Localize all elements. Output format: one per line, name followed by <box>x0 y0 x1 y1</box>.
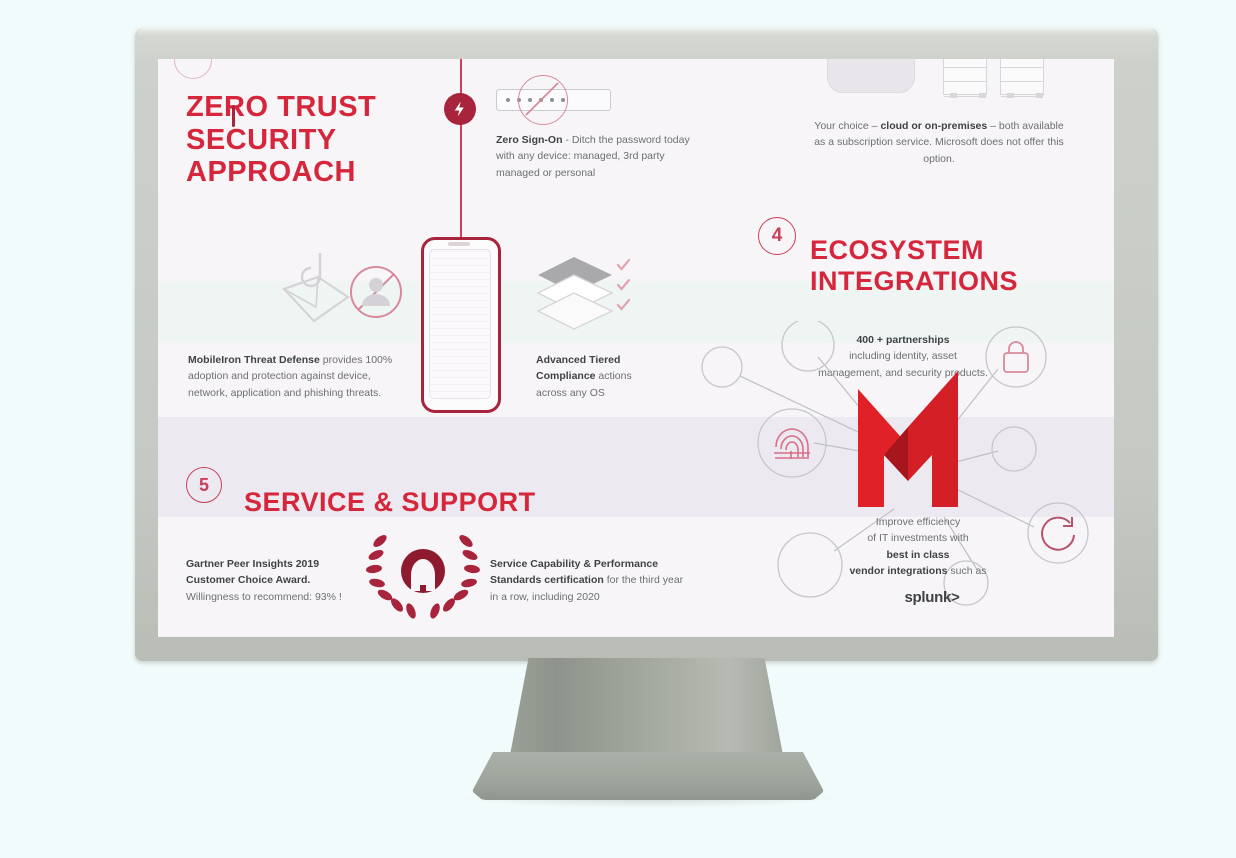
password-dot <box>506 98 510 102</box>
monitor-screen: ZERO TRUST SECURITY APPROACH Zero Sig <box>158 59 1114 637</box>
fingerprint-icon <box>774 429 810 459</box>
threat-defense-caption: MobileIron Threat Defense provides 100% … <box>188 352 400 402</box>
node-circle <box>782 321 834 371</box>
mobileiron-m-logo <box>856 371 960 507</box>
zero-sign-on-separator: - <box>563 134 572 146</box>
section-number-5: 5 <box>199 475 209 496</box>
page-title-line-3: APPROACH <box>186 156 356 188</box>
ecosystem-title-line-2: INTEGRATIONS <box>810 266 1018 296</box>
efficiency-suffix: such as <box>947 565 986 577</box>
gartner-line-2: Customer Choice Award. <box>186 574 310 586</box>
zero-sign-on-node-icon <box>444 93 476 125</box>
server-slot <box>1001 68 1043 82</box>
efficiency-caption: Improve efficiency of IT investments wit… <box>820 514 1016 580</box>
section-number-badge-4: 4 <box>758 217 796 255</box>
gartner-line-3: Willingness to recommend: 93% ! <box>186 591 342 603</box>
page-title-line-1: ZERO TRUST <box>186 91 376 123</box>
deployment-prefix: Your choice – <box>814 120 880 132</box>
phone-side-button <box>232 105 235 127</box>
node-circle <box>992 427 1036 471</box>
page-title: ZERO TRUST SECURITY APPROACH <box>186 91 376 188</box>
server-leg <box>1036 93 1043 98</box>
deployment-bold: cloud or on-premises <box>880 120 987 132</box>
tiered-compliance-caption: Advanced Tiered Compliance actions acros… <box>536 352 656 402</box>
efficiency-bold-2: vendor integrations <box>849 565 947 577</box>
person-prohibited-icon <box>348 264 404 320</box>
lock-icon <box>1004 342 1028 372</box>
section-number-4: 4 <box>772 225 783 247</box>
server-rack-icon <box>943 59 987 95</box>
layered-stack-icon <box>536 255 636 331</box>
deployment-choice-caption: Your choice – cloud or on-premises – bot… <box>808 118 1070 168</box>
phone-screen <box>429 249 491 399</box>
ecosystem-title-line-1: ECOSYSTEM <box>810 235 984 265</box>
server-leg <box>979 93 986 98</box>
node-circle <box>986 327 1046 387</box>
ecosystem-title: ECOSYSTEM INTEGRATIONS <box>810 235 1018 295</box>
service-support-title: SERVICE & SUPPORT <box>244 487 536 517</box>
section-number-badge-5: 5 <box>186 467 222 503</box>
monitor-base-shadow <box>462 788 834 808</box>
monitor-illustration: ZERO TRUST SECURITY APPROACH Zero Sig <box>0 0 1236 858</box>
node-circle <box>702 347 742 387</box>
phone-notch <box>448 242 470 246</box>
efficiency-line-1: Improve efficiency <box>876 516 960 528</box>
gartner-caption: Gartner Peer Insights 2019 Customer Choi… <box>186 556 372 606</box>
server-rack-icon <box>1000 59 1044 95</box>
smartphone-icon <box>421 237 501 413</box>
tablet-device-icon <box>827 59 915 93</box>
server-leg <box>1007 93 1014 98</box>
zero-sign-on-caption: Zero Sign-On - Ditch the password today … <box>496 132 692 182</box>
laurel-person-icon <box>401 549 445 593</box>
sync-refresh-icon <box>1042 517 1074 550</box>
certification-caption: Service Capability & Performance Standar… <box>490 556 690 606</box>
prohibited-slash-icon <box>518 75 566 123</box>
efficiency-line-2: of IT investments with <box>867 532 968 544</box>
laurel-award-icon <box>366 527 480 619</box>
threat-defense-label: MobileIron Threat Defense <box>188 354 320 366</box>
server-slot <box>1001 59 1043 68</box>
gartner-line-1: Gartner Peer Insights 2019 <box>186 558 319 570</box>
monitor-bezel-highlight <box>137 29 1156 36</box>
server-slot <box>944 68 986 82</box>
efficiency-bold-1: best in class <box>886 549 949 561</box>
server-slot <box>944 59 986 68</box>
node-circle <box>1028 503 1088 563</box>
zero-sign-on-label: Zero Sign-On <box>496 134 563 146</box>
splunk-logo: splunk> <box>872 589 992 606</box>
server-leg <box>950 93 957 98</box>
page-title-line-2: SECURITY <box>186 124 337 156</box>
